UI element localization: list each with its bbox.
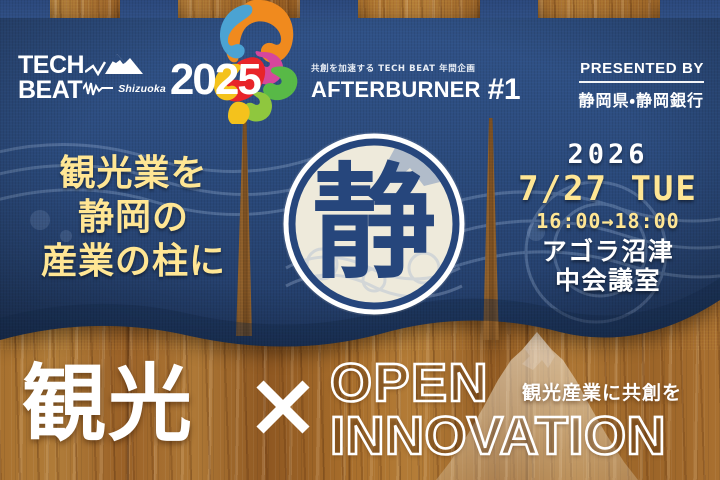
open-innovation-line-2: INNOVATION — [330, 409, 708, 464]
series-number: #1 — [488, 76, 520, 103]
series-title: AFTERBURNER — [311, 77, 481, 103]
presented-by-organizers: 静岡県・静岡銀行 — [579, 87, 704, 111]
fuji-waveform-mark — [85, 52, 143, 76]
tech-beat-line1: TECH — [18, 53, 84, 77]
waveform-icon — [83, 81, 113, 97]
headline-line-1: 観光業を — [26, 152, 241, 196]
presented-by-rule — [579, 81, 704, 83]
schedule-year: 2026 — [510, 140, 706, 170]
bottom-left-word: 観光 — [22, 362, 194, 446]
tech-beat-region: Shizuoka — [118, 84, 166, 94]
tech-beat-line2: BEAT — [18, 78, 82, 102]
bottom-tagline: 観光産業に共創を — [522, 378, 682, 405]
presented-by-label: PRESENTED BY — [579, 60, 704, 77]
schedule-block: 2026 7/27 TUE 16:00→18:00 アゴラ沼津 中会議室 — [510, 140, 706, 296]
headline-line-2: 静岡の — [26, 196, 241, 240]
schedule-date: 7/27 TUE — [510, 170, 706, 208]
headline-line-3: 産業の柱に — [26, 240, 241, 284]
bottom-lockup: 観光 OPEN INNOVATION 観光産業に共創を — [0, 352, 720, 480]
times-symbol-icon — [252, 376, 314, 438]
venue-line-2: 中会議室 — [510, 266, 706, 296]
series-title-block: 共創を加速する TECH BEAT 年間企画 AFTERBURNER #1 — [311, 62, 520, 103]
event-poster: 静 TECH BEAT — [0, 0, 720, 480]
tech-beat-year: 2025 — [170, 55, 260, 105]
headline: 観光業を 静岡の 産業の柱に — [26, 152, 241, 284]
presented-by-block: PRESENTED BY 静岡県・静岡銀行 — [579, 60, 704, 111]
venue-line-1: アゴラ沼津 — [510, 237, 706, 267]
poster-text-layer: TECH BEAT Shizuoka 2025 — [0, 0, 720, 480]
tech-beat-logo: TECH BEAT Shizuoka 2025 — [18, 52, 260, 102]
open-innovation-lockup: OPEN INNOVATION 観光産業に共創を — [330, 356, 708, 464]
schedule-time: 16:00→18:00 — [510, 208, 706, 234]
